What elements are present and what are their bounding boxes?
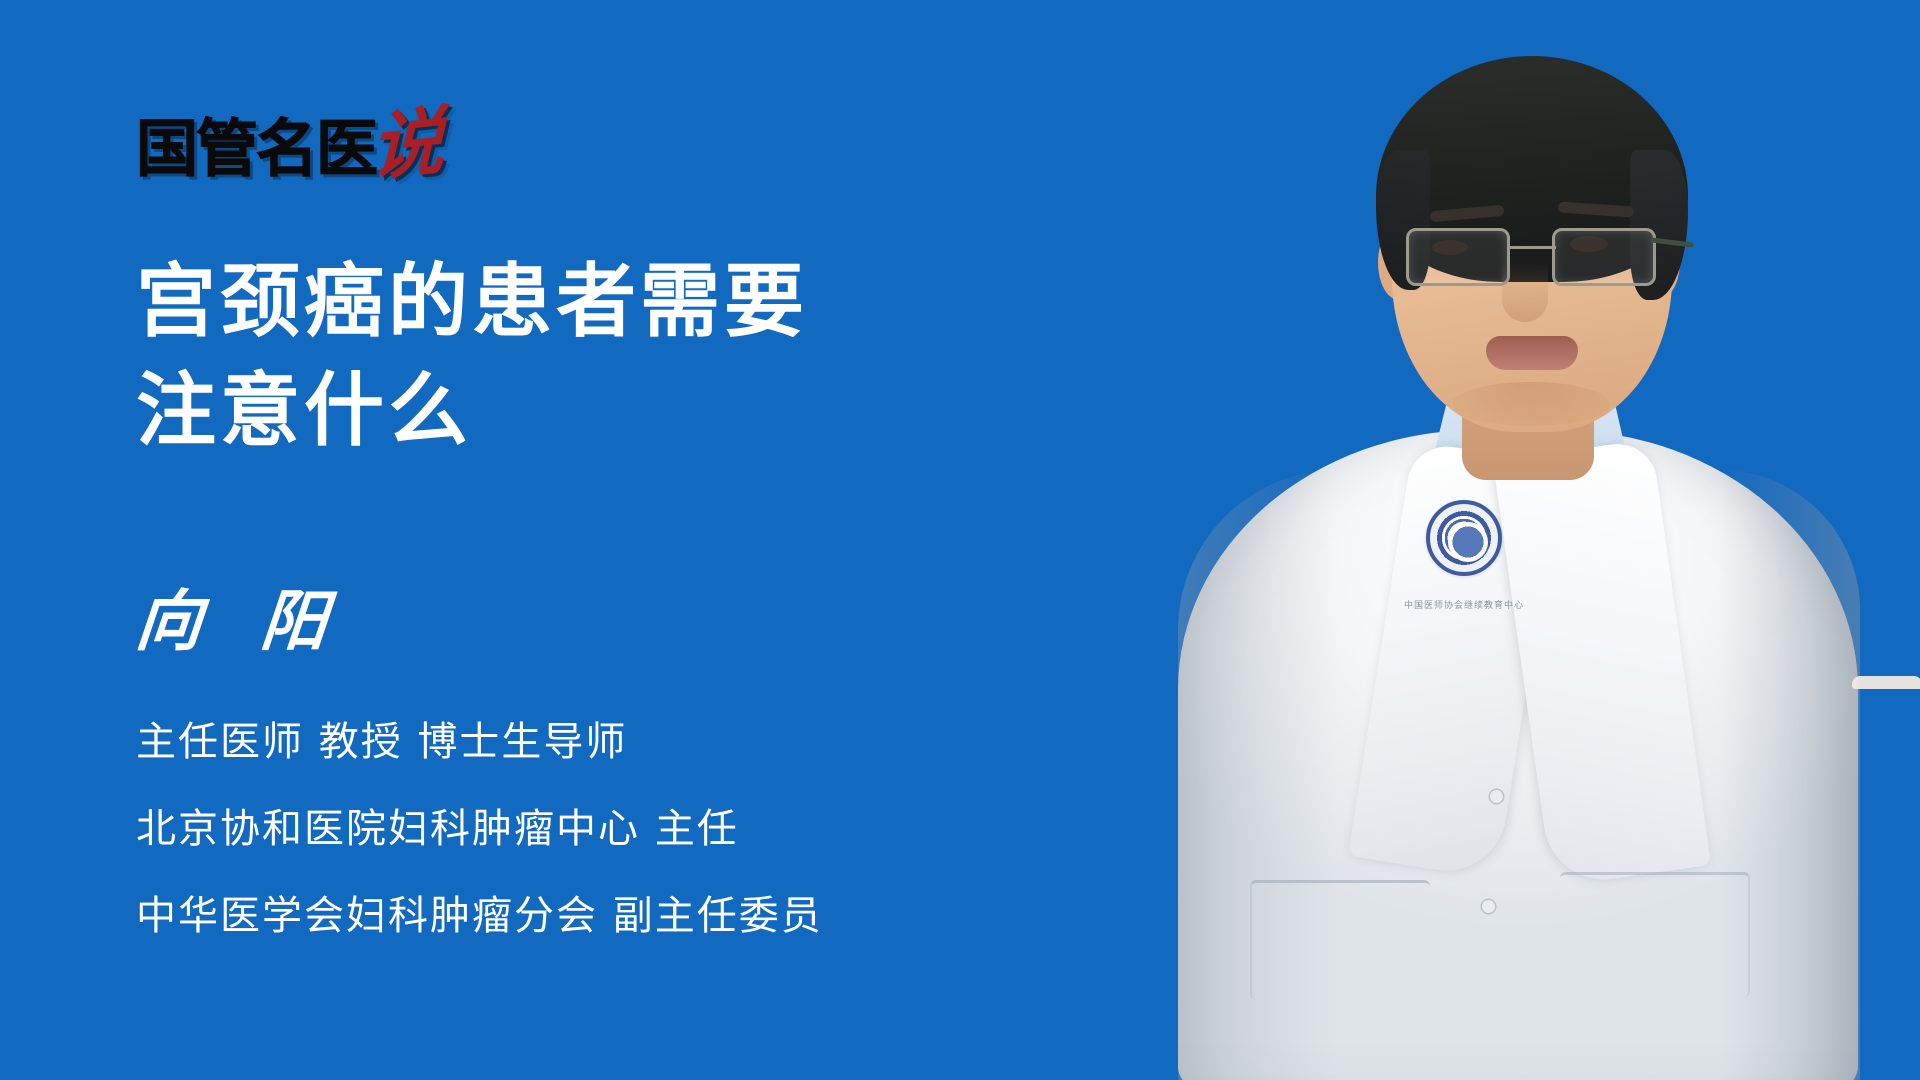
chin-shadow xyxy=(1452,382,1610,426)
nose xyxy=(1502,262,1548,322)
text-column: 国管名医 说 宫颈癌的患者需要 注意什么 向 阳 主任医师 教授 博士生导师 北… xyxy=(0,0,1080,1080)
program-logo-main-text: 国管名医 xyxy=(136,118,376,180)
credential-line: 中华医学会妇科肿瘤分会 副主任委员 xyxy=(136,896,823,936)
eyeglass-bridge xyxy=(1510,246,1556,249)
coat-button xyxy=(1482,900,1495,913)
eyeglass-lens-left xyxy=(1406,228,1510,286)
coat-button xyxy=(1490,790,1503,803)
eyeglass-lens-right xyxy=(1552,228,1656,286)
credential-line: 北京协和医院妇科肿瘤中心 主任 xyxy=(136,809,823,849)
page-title: 宫颈癌的患者需要 注意什么 xyxy=(136,248,1036,466)
title-line-1: 宫颈癌的患者需要 xyxy=(136,248,1036,357)
coat-pocket-right xyxy=(1560,872,1750,997)
emblem-core-icon xyxy=(1448,522,1488,562)
speaker-credentials: 主任医师 教授 博士生导师 北京协和医院妇科肿瘤中心 主任 中华医学会妇科肿瘤分… xyxy=(136,722,823,936)
title-line-2: 注意什么 xyxy=(136,357,1036,466)
speaker-portrait: 中国医师协会继续教育中心 xyxy=(1130,0,1920,1080)
speaker-name: 向 阳 xyxy=(133,588,348,654)
coat-pocket-left xyxy=(1250,880,1430,1000)
hospital-emblem-icon xyxy=(1426,500,1502,576)
teeth xyxy=(1852,676,1920,689)
credential-line: 主任医师 教授 博士生导师 xyxy=(136,722,823,762)
program-logo-accent-text: 说 xyxy=(370,104,444,186)
program-logo: 国管名医 说 xyxy=(136,108,444,182)
mouth xyxy=(1486,336,1578,370)
title-card-stage: 国管名医 说 宫颈癌的患者需要 注意什么 向 阳 主任医师 教授 博士生导师 北… xyxy=(0,0,1920,1080)
emblem-caption: 中国医师协会继续教育中心 xyxy=(1398,598,1530,611)
